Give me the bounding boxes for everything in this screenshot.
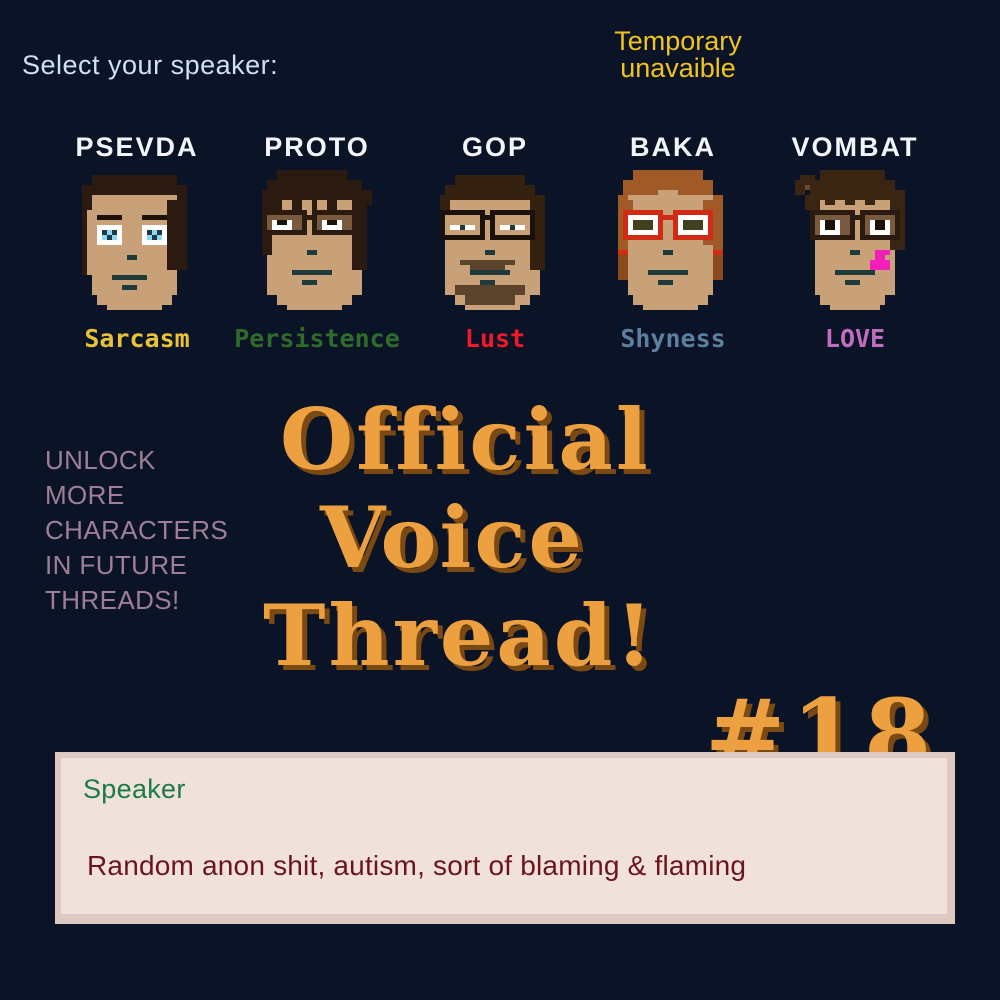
character-avatar-psevda[interactable] [42, 170, 232, 320]
character-trait-baka: Shyness [578, 324, 768, 353]
character-name-gop: GOP [400, 130, 590, 164]
character-option-gop[interactable]: GOP [400, 130, 590, 353]
character-option-baka[interactable]: BAKA [578, 130, 768, 353]
character-name-psevda: PSEVDA [42, 130, 232, 164]
unlock-note-line-2: MORE [45, 478, 285, 513]
gop-face-icon [430, 170, 560, 320]
temporary-note-line-1: Temporary [578, 28, 778, 55]
baka-face-icon [608, 170, 738, 320]
title-line-3: Thread! [263, 596, 975, 676]
character-name-baka: BAKA [578, 130, 768, 164]
character-select-row: PSEVDA [0, 130, 1000, 380]
character-option-vombat[interactable]: VOMBAT [760, 130, 950, 353]
character-avatar-proto[interactable] [222, 170, 412, 320]
character-name-vombat: VOMBAT [760, 130, 950, 164]
speaker-dialog-box[interactable]: Speaker Random anon shit, autism, sort o… [55, 752, 955, 924]
main-title: Official Voice Thread! #18 [255, 400, 975, 781]
character-option-psevda[interactable]: PSEVDA [42, 130, 232, 353]
character-avatar-gop[interactable] [400, 170, 590, 320]
psevda-face-icon [72, 170, 202, 320]
title-line-2: Voice [320, 498, 975, 578]
character-avatar-vombat[interactable] [760, 170, 950, 320]
unlock-note: UNLOCK MORE CHARACTERS IN FUTURE THREADS… [45, 443, 285, 618]
temporary-unavailable-note: Temporary unavaible [578, 28, 778, 82]
character-trait-gop: Lust [400, 324, 590, 353]
character-option-proto[interactable]: PROTO [222, 130, 412, 353]
proto-face-icon [252, 170, 382, 320]
unlock-note-line-1: UNLOCK [45, 443, 285, 478]
select-speaker-label: Select your speaker: [22, 50, 278, 81]
vombat-face-icon [790, 170, 920, 320]
character-trait-vombat: LOVE [760, 324, 950, 353]
title-line-1: Official [280, 400, 975, 480]
speaker-body-text: Random anon shit, autism, sort of blamin… [87, 848, 927, 883]
unlock-note-line-3: CHARACTERS [45, 513, 285, 548]
unlock-note-line-4: IN FUTURE [45, 548, 285, 583]
speaker-label: Speaker [83, 774, 186, 805]
app-root: Select your speaker: Temporary unavaible… [0, 0, 1000, 1000]
unlock-note-line-5: THREADS! [45, 583, 285, 618]
character-trait-proto: Persistence [222, 324, 412, 353]
speaker-dialog-inner: Speaker Random anon shit, autism, sort o… [61, 758, 947, 914]
character-trait-psevda: Sarcasm [42, 324, 232, 353]
character-name-proto: PROTO [222, 130, 412, 164]
temporary-note-line-2: unavaible [578, 55, 778, 82]
character-avatar-baka[interactable] [578, 170, 768, 320]
